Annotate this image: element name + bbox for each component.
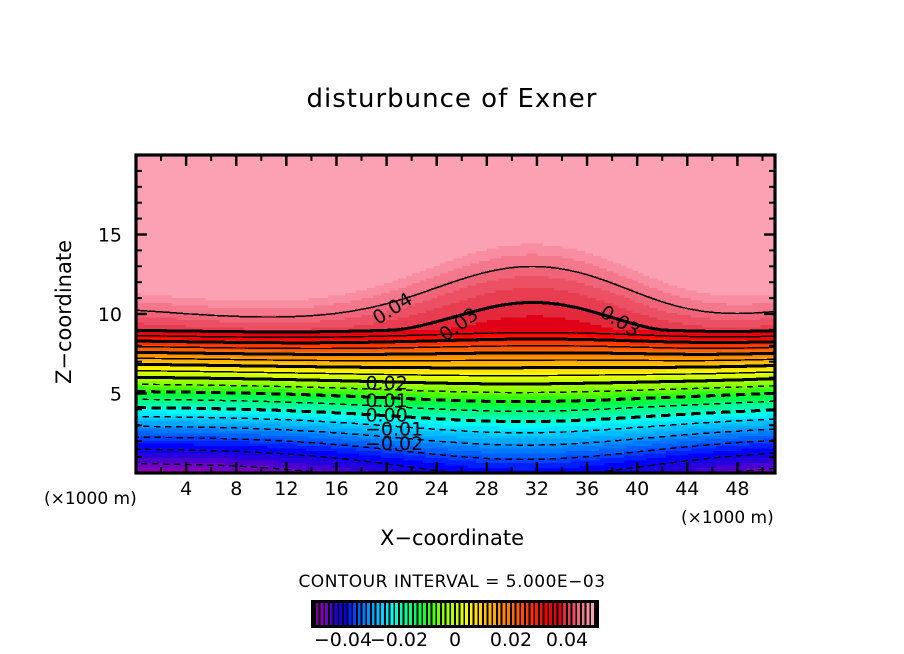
colorbar-band	[358, 603, 361, 625]
x-tick-label: 44	[675, 478, 699, 500]
colorbar-band	[377, 603, 380, 625]
colorbar-band	[325, 603, 328, 625]
colorbar-band	[400, 603, 403, 625]
colorbar-band	[475, 603, 478, 625]
colorbar-band	[344, 603, 347, 625]
colorbar-band	[507, 603, 510, 625]
colorbar-band	[484, 603, 487, 625]
colorbar-band	[339, 603, 342, 625]
contour-label: −0.02	[365, 433, 423, 455]
colorbar-band	[409, 603, 412, 625]
colorbar-band	[521, 603, 524, 625]
colorbar-band	[582, 603, 585, 625]
colorbar-band	[591, 603, 594, 625]
colorbar-band	[498, 603, 501, 625]
colorbar-band	[363, 603, 366, 625]
x-tick-label: 20	[374, 478, 398, 500]
colorbar-band	[465, 603, 468, 625]
colorbar-band	[470, 603, 473, 625]
x-tick-label: 24	[425, 478, 449, 500]
colorbar-band	[316, 603, 319, 625]
colorbar-band	[386, 603, 389, 625]
colorbar-band	[391, 603, 394, 625]
colorbar-band	[395, 603, 398, 625]
colorbar-band	[335, 603, 338, 625]
colorbar-band	[433, 603, 436, 625]
colorbar-band	[563, 603, 566, 625]
colorbar-band	[405, 603, 408, 625]
colorbar-band	[321, 603, 324, 625]
colorbar-band	[423, 603, 426, 625]
x-tick-label: 4	[180, 478, 192, 500]
colorbar-band	[587, 603, 590, 625]
colorbar-band	[559, 603, 562, 625]
colorbar-band	[489, 603, 492, 625]
colorbar-tick-label: −0.02	[370, 629, 428, 651]
colorbar-band	[479, 603, 482, 625]
colorbar-band	[451, 603, 454, 625]
y-tick-label: 5	[110, 384, 122, 406]
x-tick-label: 28	[475, 478, 499, 500]
colorbar-band	[330, 603, 333, 625]
x-tick-label: 32	[525, 478, 549, 500]
colorbar-band	[549, 603, 552, 625]
x-tick-label: 40	[625, 478, 649, 500]
y-tick-label: 15	[98, 225, 122, 247]
colorbar-band	[372, 603, 375, 625]
colorbar-band	[512, 603, 515, 625]
x-tick-label: 8	[230, 478, 242, 500]
colorbar-band	[545, 603, 548, 625]
colorbar-tick-label: 0.02	[490, 629, 532, 651]
colorbar-band	[573, 603, 576, 625]
contour-plot: 0.040.030.030.020.010.00−0.01−0.02481216…	[0, 0, 904, 654]
colorbar-band	[447, 603, 450, 625]
figure-canvas: disturbunce of Exner Z−coordinate X−coor…	[0, 0, 904, 654]
colorbar-band	[526, 603, 529, 625]
colorbar-band	[437, 603, 440, 625]
colorbar-band	[367, 603, 370, 625]
colorbar-band	[535, 603, 538, 625]
x-tick-label: 16	[324, 478, 348, 500]
colorbar-band	[461, 603, 464, 625]
x-tick-label: 48	[725, 478, 749, 500]
colorbar-band	[577, 603, 580, 625]
colorbar-band	[568, 603, 571, 625]
x-tick-label: 12	[274, 478, 298, 500]
y-tick-label: 10	[98, 304, 122, 326]
colorbar-band	[554, 603, 557, 625]
colorbar-band	[414, 603, 417, 625]
colorbar-band	[428, 603, 431, 625]
colorbar-band	[381, 603, 384, 625]
colorbar-band	[456, 603, 459, 625]
colorbar-tick-label: 0.04	[546, 629, 588, 651]
colorbar-band	[353, 603, 356, 625]
colorbar-band	[419, 603, 422, 625]
colorbar-band	[531, 603, 534, 625]
colorbar-band	[540, 603, 543, 625]
colorbar-tick-label: −0.04	[314, 629, 372, 651]
colorbar-band	[517, 603, 520, 625]
colorbar-band	[442, 603, 445, 625]
colorbar-band	[503, 603, 506, 625]
colorbar-band	[349, 603, 352, 625]
colorbar-band	[493, 603, 496, 625]
colorbar-tick-label: 0	[449, 629, 461, 651]
x-tick-label: 36	[575, 478, 599, 500]
